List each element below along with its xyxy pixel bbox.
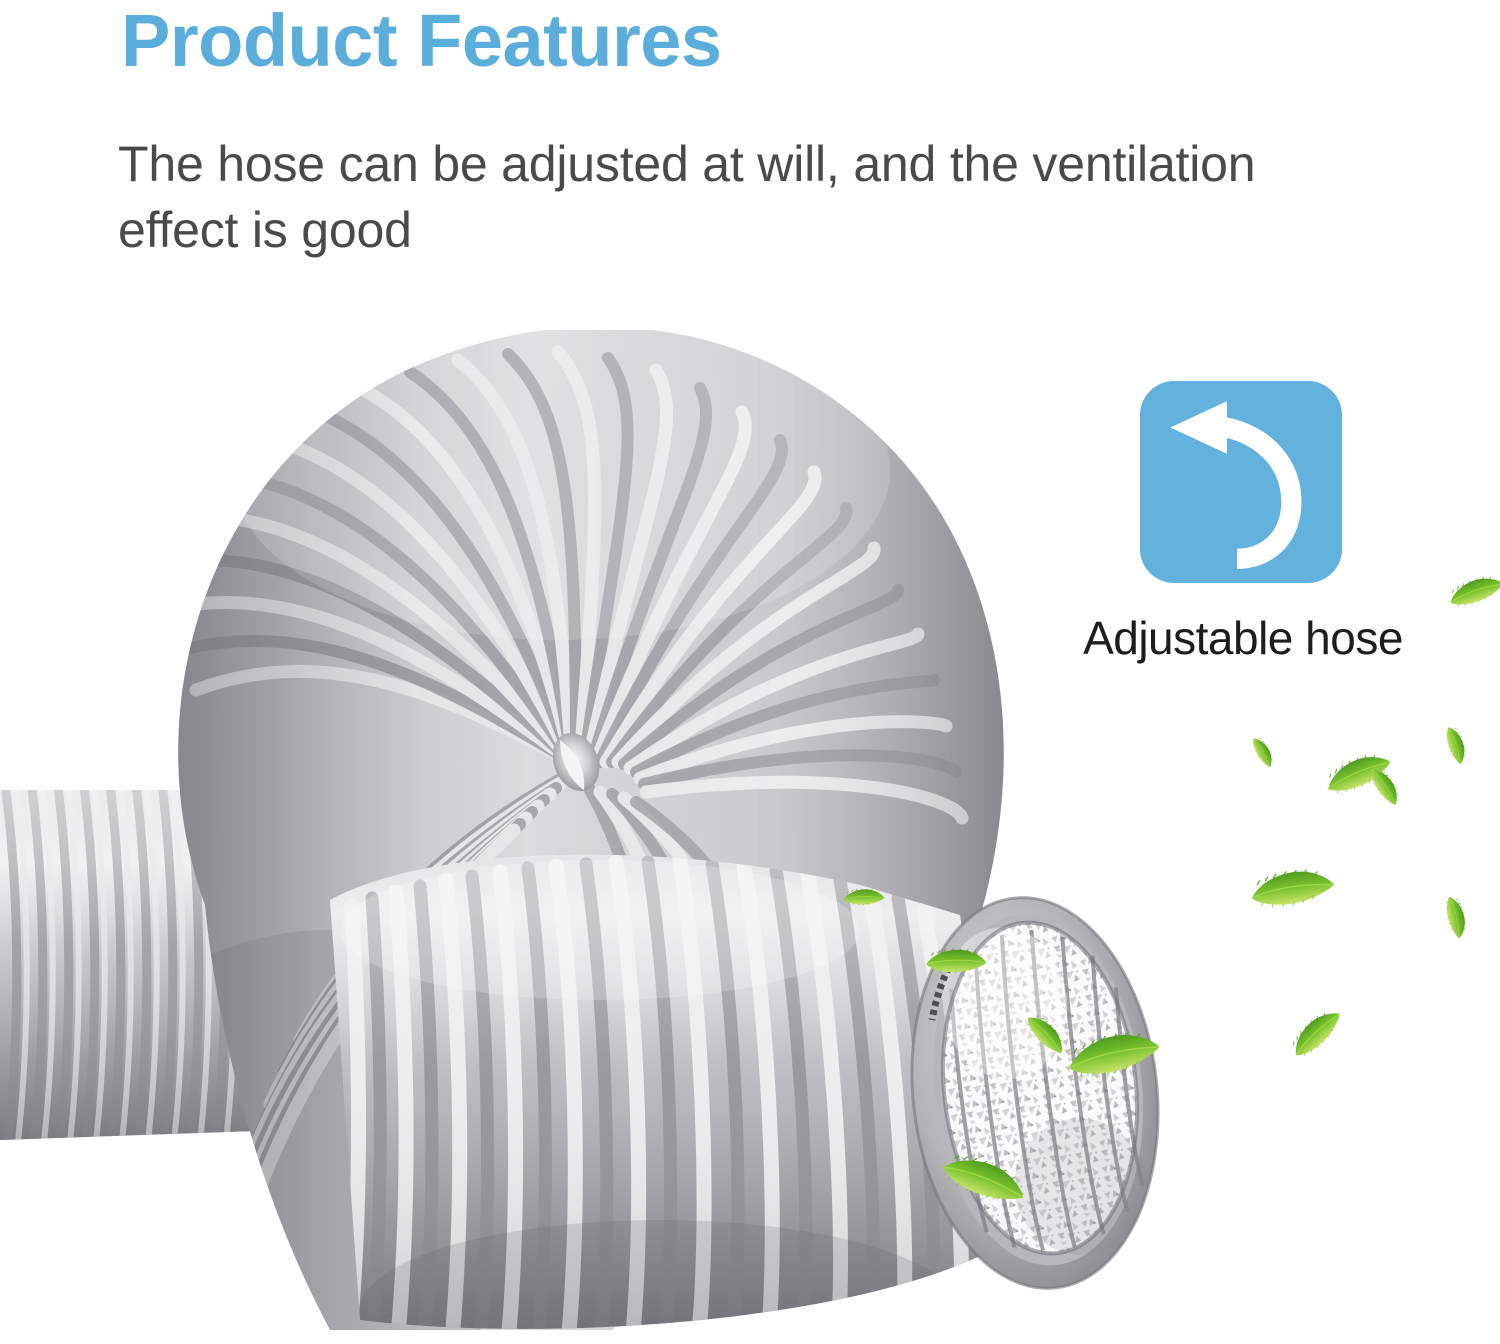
adjustable-hose-badge (1140, 381, 1342, 583)
page-subtitle: The hose can be adjusted at will, and th… (118, 131, 1298, 263)
page-title: Product Features (121, 4, 722, 78)
product-feature-banner: Product Features The hose can be adjuste… (0, 0, 1500, 1344)
rotate-counterclockwise-icon (1140, 381, 1342, 583)
adjustable-hose-label: Adjustable hose (1043, 611, 1443, 665)
